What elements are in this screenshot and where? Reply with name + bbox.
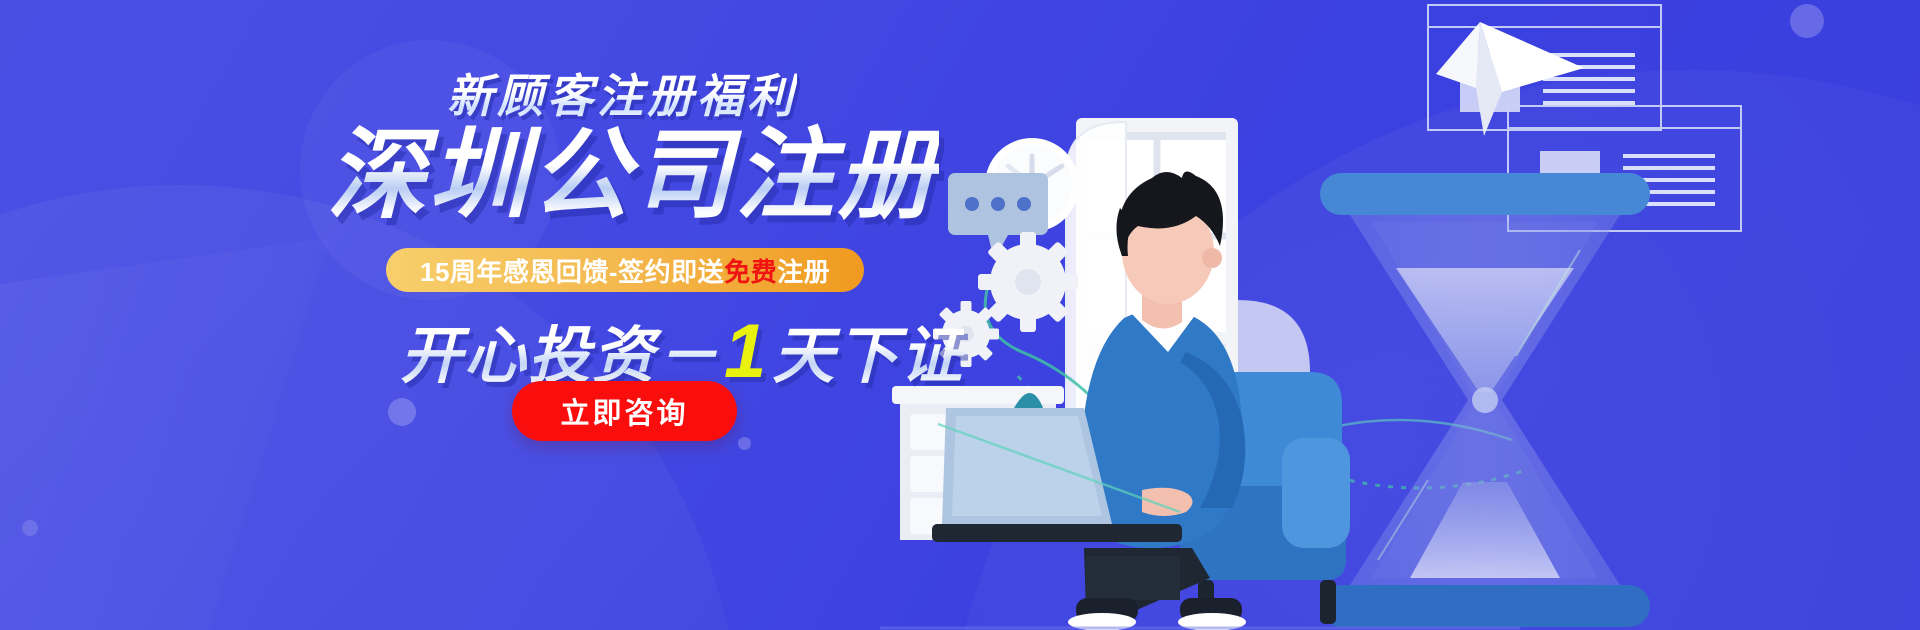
banner-headline: 深圳公司注册 bbox=[327, 123, 939, 227]
tagline-number: 1 bbox=[720, 308, 772, 395]
banner-copy: 新顾客注册福利 深圳公司注册 15周年感恩回馈-签约即送 免费 注册 开心投资－… bbox=[0, 0, 960, 630]
hero-illustration bbox=[880, 0, 1920, 630]
promo-highlight: 免费 bbox=[724, 252, 777, 289]
consult-now-label: 立即咨询 bbox=[560, 390, 688, 432]
consult-now-button[interactable]: 立即咨询 bbox=[512, 381, 737, 441]
promo-suffix: 注册 bbox=[777, 252, 830, 289]
promo-prefix: 15周年感恩回馈-签约即送 bbox=[420, 252, 724, 289]
hourglass bbox=[1320, 173, 1650, 627]
promo-banner: 新顾客注册福利 深圳公司注册 15周年感恩回馈-签约即送 免费 注册 开心投资－… bbox=[0, 0, 1920, 630]
tagline-after: 天下证 bbox=[772, 305, 964, 395]
promo-badge: 15周年感恩回馈-签约即送 免费 注册 bbox=[386, 248, 864, 292]
banner-kicker: 新顾客注册福利 bbox=[447, 60, 797, 126]
